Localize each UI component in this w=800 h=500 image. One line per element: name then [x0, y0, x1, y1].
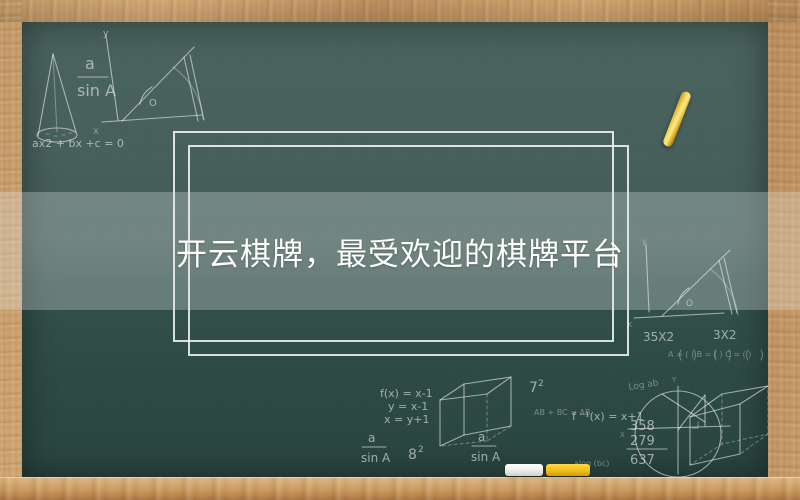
frame-top-rail — [0, 0, 800, 22]
chalk-stick-yellow — [546, 464, 590, 476]
page-title: 开云棋牌，最受欢迎的棋牌平台 — [0, 192, 800, 310]
chalk-tray — [0, 477, 800, 500]
chalk-stick-white — [505, 464, 543, 476]
chalkboard-banner: a sin A y x O ax2 + bx +c = 0 — [0, 0, 800, 500]
